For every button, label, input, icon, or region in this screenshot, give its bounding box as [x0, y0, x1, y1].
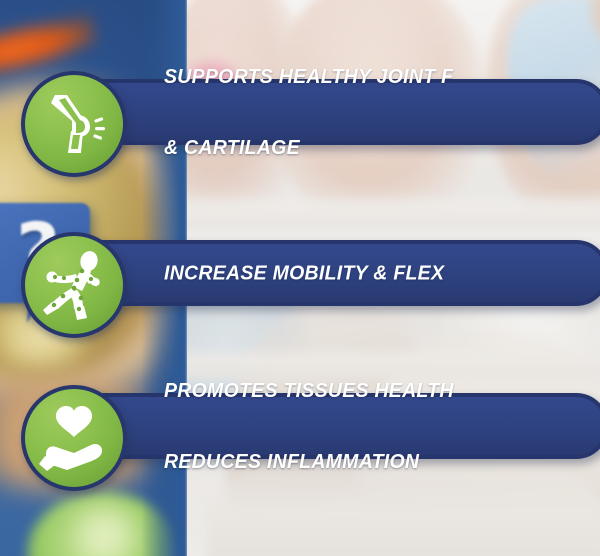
promo-graphic: ? SUPPORTS HEALTHY JOINT F & CARTILAGE — [0, 0, 600, 556]
benefit-line-1: INCREASE MOBILITY & FLEX — [164, 261, 444, 285]
benefit-banner-tissue-health-text: PROMOTES TISSUES HEALTH REDUCES INFLAMMA… — [164, 331, 469, 521]
benefit-line-1: PROMOTES TISSUES HEALTH — [164, 378, 454, 402]
benefit-line-2: & CARTILAGE — [164, 136, 453, 160]
knee-joint-icon — [21, 71, 127, 177]
benefit-banner-mobility-text: INCREASE MOBILITY & FLEX — [164, 214, 459, 333]
running-figure-icon — [21, 232, 127, 338]
benefit-line-1: SUPPORTS HEALTHY JOINT F — [164, 64, 453, 88]
heart-in-hand-icon — [21, 385, 127, 491]
broccoli-highlight-blur — [60, 505, 152, 556]
benefit-banner-joint-health-text: SUPPORTS HEALTHY JOINT F & CARTILAGE — [164, 17, 469, 207]
benefit-line-2: REDUCES INFLAMMATION — [164, 450, 454, 474]
